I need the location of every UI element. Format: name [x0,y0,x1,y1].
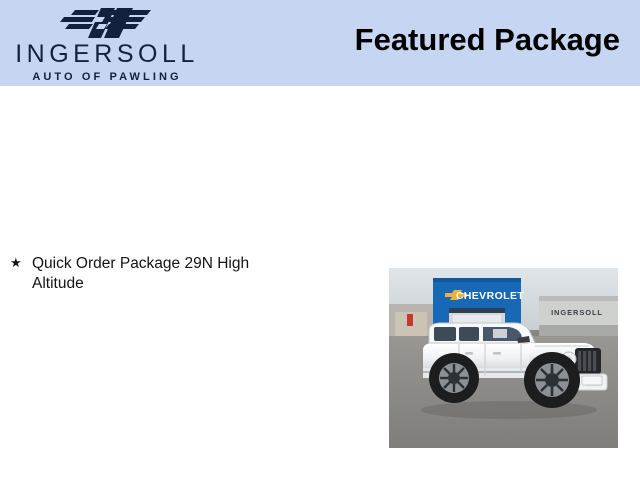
svg-text:INGERSOLL: INGERSOLL [551,308,603,317]
list-item: ★ Quick Order Package 29N High Altitude [10,254,310,295]
svg-text:CHEVROLET: CHEVROLET [456,290,525,302]
feature-label: Quick Order Package 29N High Altitude [32,254,294,295]
vehicle-photo-illustration: INGERSOLL CHEVROLET [389,268,618,448]
content-area: ★ Quick Order Package 29N High Altitude [0,86,640,480]
ingersoll-winged-emblem [55,6,155,40]
vehicle-photo: INGERSOLL CHEVROLET [389,268,618,448]
dealer-brand-name: INGERSOLL [4,42,210,67]
page-title: Featured Package [355,22,620,58]
star-icon: ★ [10,254,32,273]
dealer-brand-tagline: AUTO OF PAWLING [4,72,210,83]
dealer-logo-lockup[interactable]: INGERSOLL AUTO OF PAWLING [0,4,210,84]
feature-list: ★ Quick Order Package 29N High Altitude [10,254,310,295]
